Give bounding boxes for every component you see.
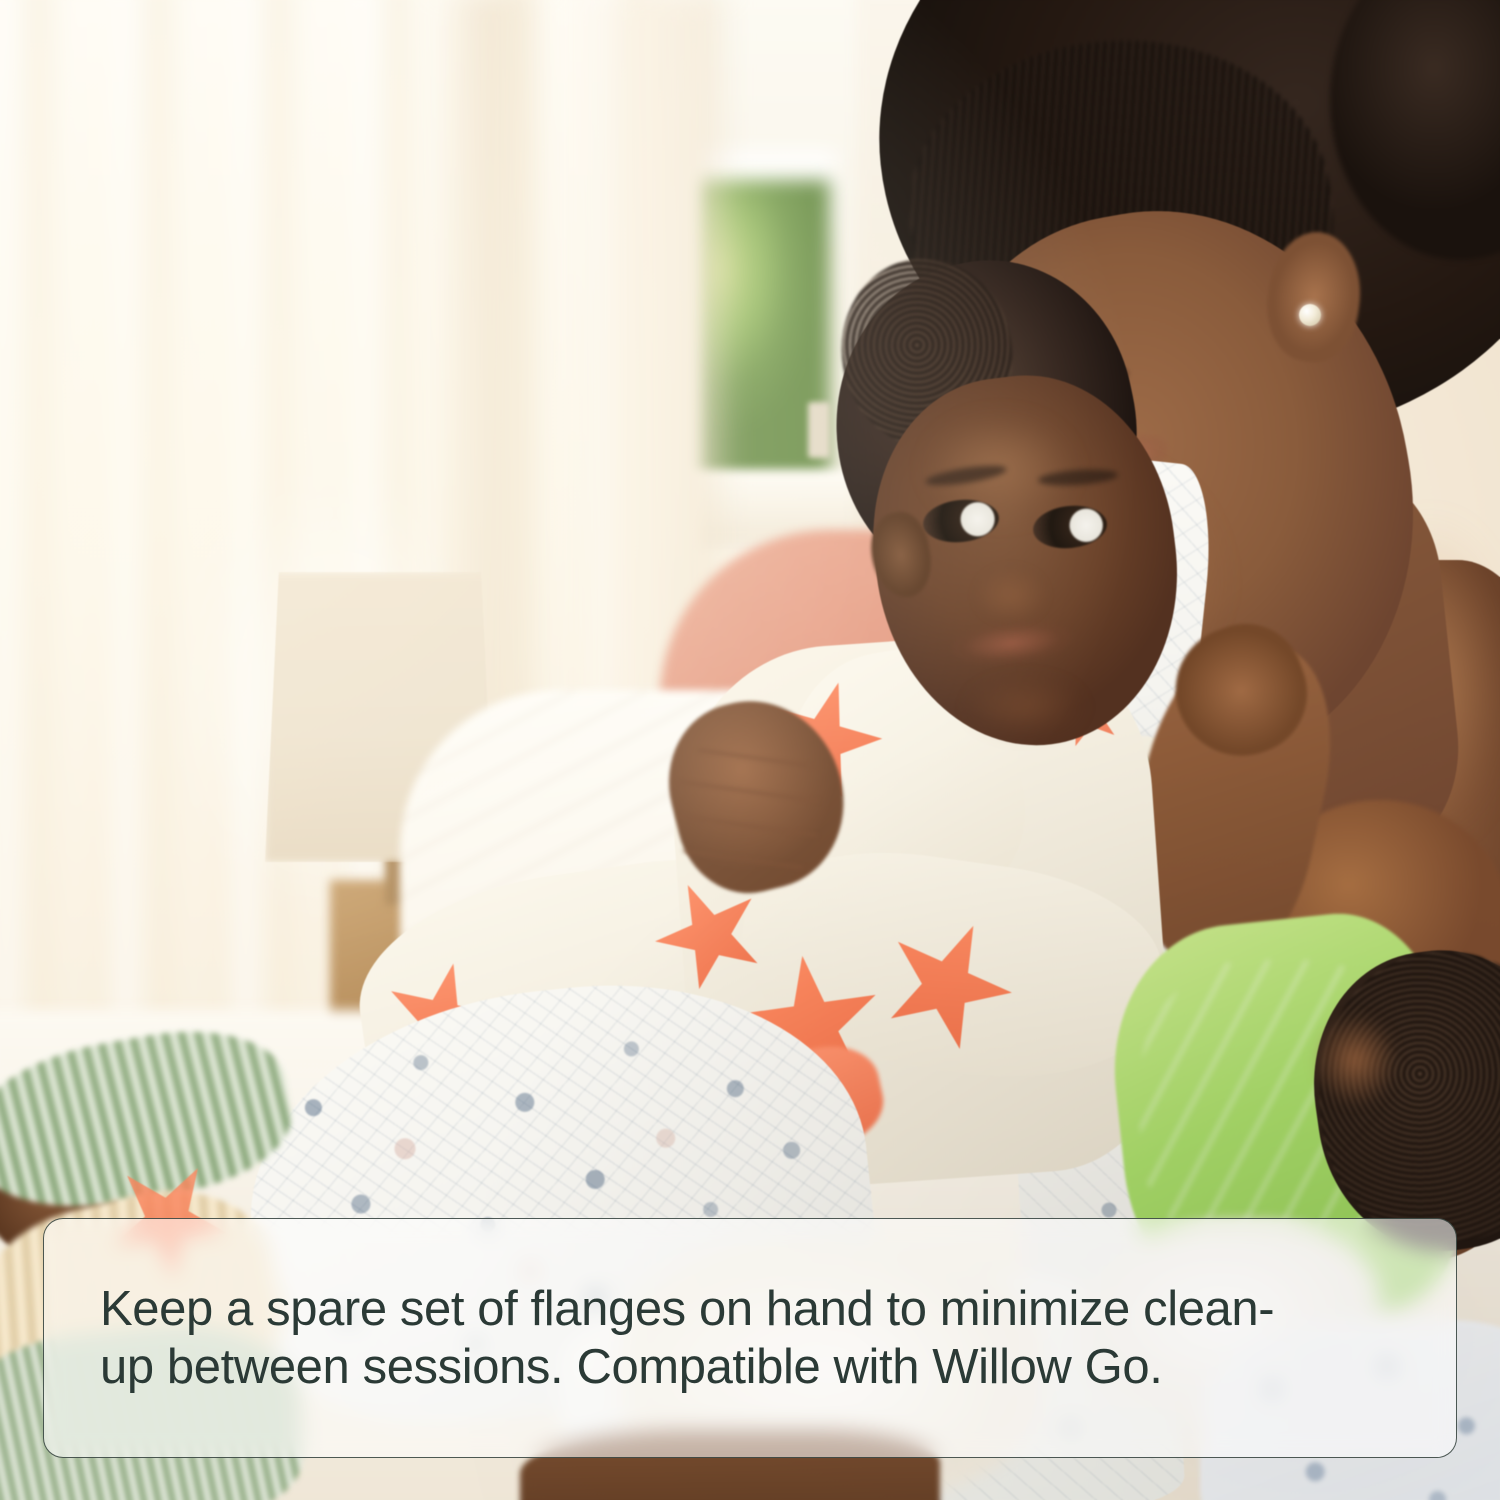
mother-fingers <box>678 736 818 886</box>
image-canvas: Keep a spare set of flanges on hand to m… <box>0 0 1500 1500</box>
caption-text: Keep a spare set of flanges on hand to m… <box>100 1280 1280 1396</box>
window-latch <box>808 402 830 458</box>
caption-card: Keep a spare set of flanges on hand to m… <box>43 1218 1457 1458</box>
toddler-nose <box>966 560 1056 630</box>
toddler-chin <box>950 668 1100 746</box>
infant-cheek <box>1300 1000 1410 1120</box>
earring <box>1299 304 1321 326</box>
